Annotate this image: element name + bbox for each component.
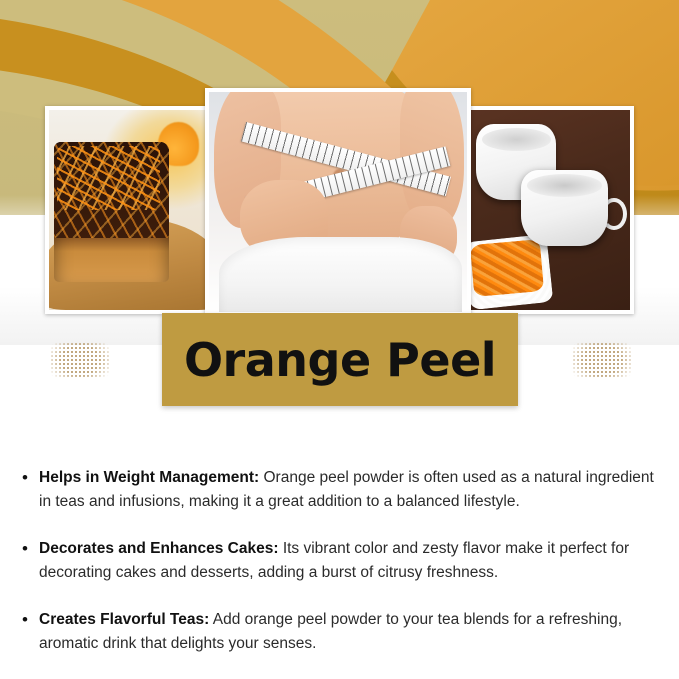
benefit-text: Creates Flavorful Teas: Add orange peel …: [39, 608, 661, 655]
image-gallery: [0, 0, 679, 330]
benefits-list: • Helps in Weight Management: Orange pee…: [0, 466, 679, 679]
bullet-icon: •: [22, 608, 39, 655]
dot-grid-decoration-right: [572, 342, 632, 378]
page-title: Orange Peel: [184, 333, 496, 387]
waist-photo-art: [209, 92, 467, 312]
dried-orange-peel-shape: [470, 239, 544, 297]
white-towel-shape: [219, 237, 462, 312]
gallery-image-waist-measuring: [205, 88, 471, 316]
bullet-icon: •: [22, 466, 39, 513]
gallery-image-tea-cups-with-orange-peel: [466, 106, 634, 314]
white-cup-front: [521, 170, 607, 246]
list-item: • Creates Flavorful Teas: Add orange pee…: [22, 608, 661, 655]
gallery-image-chocolate-orange-cake: [45, 106, 209, 314]
list-item: • Decorates and Enhances Cakes: Its vibr…: [22, 537, 661, 584]
benefit-heading: Creates Flavorful Teas:: [39, 611, 209, 628]
orange-zest-shape: [57, 146, 160, 210]
cups-photo-art: [470, 110, 630, 310]
dot-grid-decoration-left: [50, 342, 110, 378]
benefit-text: Helps in Weight Management: Orange peel …: [39, 466, 661, 513]
benefit-heading: Helps in Weight Management:: [39, 469, 259, 486]
title-banner: Orange Peel: [162, 313, 518, 406]
bullet-icon: •: [22, 537, 39, 584]
benefit-text: Decorates and Enhances Cakes: Its vibran…: [39, 537, 661, 584]
cake-photo-art: [49, 110, 205, 310]
benefit-heading: Decorates and Enhances Cakes:: [39, 540, 279, 557]
list-item: • Helps in Weight Management: Orange pee…: [22, 466, 661, 513]
